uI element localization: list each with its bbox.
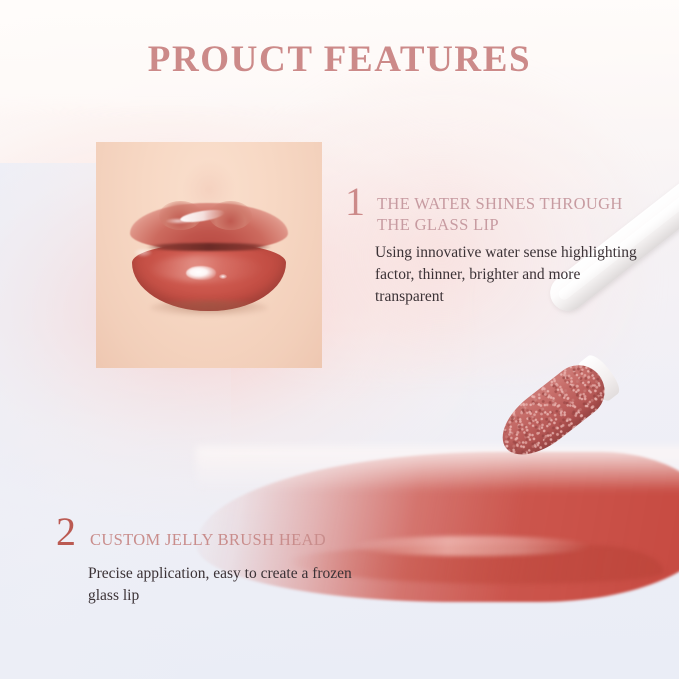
feature-1-number: 1	[345, 182, 365, 222]
page-title: PROUCT FEATURES	[0, 38, 679, 81]
lower-lip-shadow	[150, 300, 268, 316]
feature-1-heading-row: 1 THE WATER SHINES THROUGH THE GLASS LIP	[345, 186, 645, 235]
feature-1-body: Using innovative water sense highlightin…	[345, 235, 645, 308]
applicator-wand	[468, 292, 679, 522]
product-features-infographic: PROUCT FEATURES	[0, 0, 679, 679]
feature-2-heading: CUSTOM JELLY BRUSH HEAD	[56, 516, 366, 551]
flower-lips-image	[96, 142, 322, 368]
feature-1-heading: THE WATER SHINES THROUGH THE GLASS LIP	[345, 186, 645, 235]
feature-block-2: 2 CUSTOM JELLY BRUSH HEAD Precise applic…	[56, 516, 366, 607]
lower-lip-gloss-highlight	[186, 266, 215, 280]
feature-2-number: 2	[56, 512, 76, 552]
lips-photo	[96, 142, 322, 368]
gloss-pool-highlight	[352, 536, 591, 556]
mouth-line	[146, 243, 273, 251]
feature-2-body: Precise application, easy to create a fr…	[56, 551, 366, 607]
feature-2-heading-row: 2 CUSTOM JELLY BRUSH HEAD	[56, 516, 366, 551]
wand-brush-tip-texture	[490, 355, 615, 469]
feature-block-1: 1 THE WATER SHINES THROUGH THE GLASS LIP…	[345, 186, 645, 308]
